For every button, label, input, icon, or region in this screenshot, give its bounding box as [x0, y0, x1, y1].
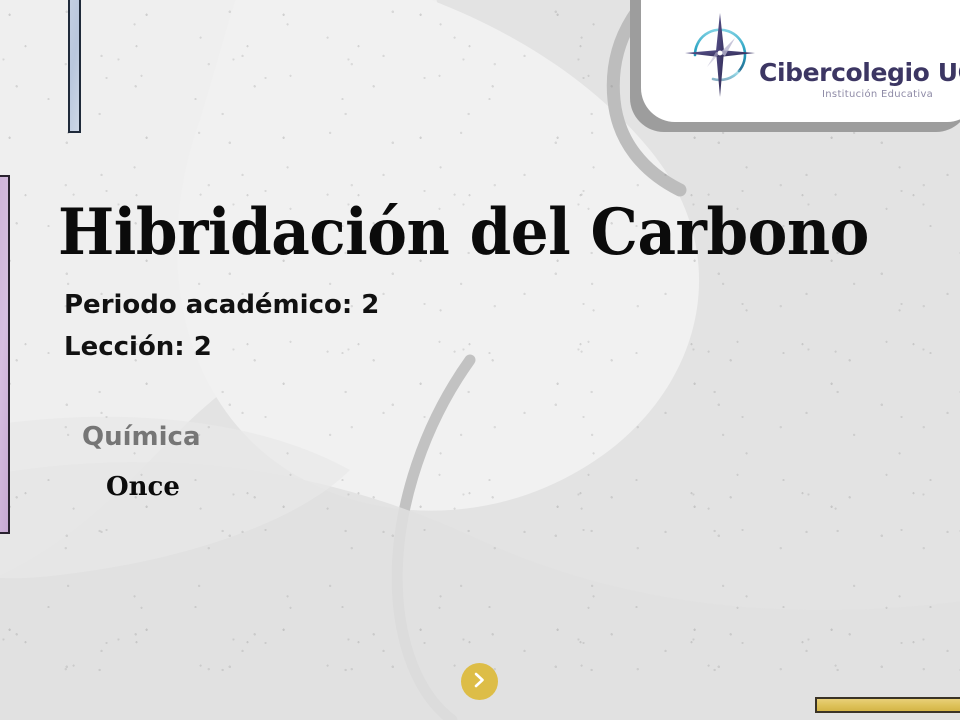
lesson-meta: Periodo académico: 2 Lección: 2 — [64, 285, 379, 368]
grade-label: Once — [106, 472, 180, 502]
slide-canvas: Cibercolegio UCN Institución Educativa H… — [0, 0, 960, 720]
page-title: Hibridación del Carbono — [58, 201, 869, 265]
chevron-right-icon — [472, 671, 487, 692]
meta-line-periodo: Periodo académico: 2 — [64, 285, 379, 327]
meta-line-leccion: Lección: 2 — [64, 327, 379, 369]
logo-card: Cibercolegio UCN Institución Educativa — [641, 0, 960, 122]
compass-star-icon — [683, 11, 757, 108]
decor-bar-gold — [815, 697, 960, 713]
subject-label: Química — [82, 422, 201, 452]
logo-tagline: Institución Educativa — [822, 89, 933, 100]
next-slide-button[interactable] — [461, 663, 498, 700]
decor-bar-blue — [68, 0, 81, 133]
decor-bar-purple — [0, 175, 10, 534]
logo-title: Cibercolegio UCN — [759, 60, 960, 85]
